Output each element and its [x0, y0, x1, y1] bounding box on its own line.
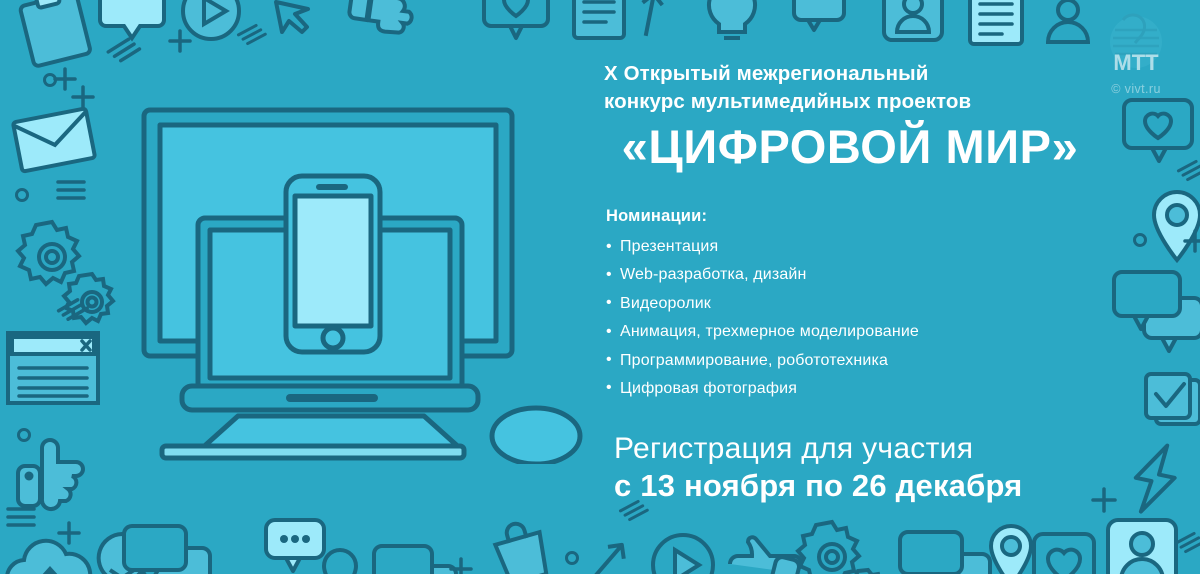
circle-icon — [1130, 230, 1150, 250]
nominations-heading: Номинации: — [606, 207, 707, 226]
registration-dates: с 13 ноября по 26 декабря — [614, 468, 1022, 504]
smartphone-shape — [286, 176, 380, 352]
plus-icon — [448, 556, 474, 574]
event-subtitle: X Открытый межрегиональный конкурс мульт… — [604, 60, 1104, 117]
mouse-shape — [492, 408, 580, 464]
heart-pin-icon — [480, 0, 552, 50]
promo-banner: X Открытый межрегиональный конкурс мульт… — [0, 0, 1200, 574]
lightning-bolt-icon — [1121, 435, 1192, 523]
plus-icon — [1182, 228, 1200, 254]
browser-window-icon — [5, 330, 101, 406]
menu-lines-icon — [56, 178, 86, 202]
registration-label: Регистрация для участия — [614, 432, 973, 466]
circle-icon — [12, 185, 32, 205]
content-column: X Открытый межрегиональный конкурс мульт… — [600, 0, 1120, 574]
circle-icon — [14, 425, 34, 445]
location-pin-icon — [1148, 188, 1200, 266]
circle-icon — [40, 70, 60, 90]
list-item: Цифровая фотография — [606, 380, 919, 399]
list-item: Анимация, трехмерное моделирование — [606, 323, 919, 342]
list-item: Web-разработка, дизайн — [606, 266, 919, 285]
vivt-logo: МТТ — [1101, 12, 1171, 83]
svg-text:МТТ: МТТ — [1113, 50, 1159, 75]
page-title: «ЦИФРОВОЙ МИР» — [570, 122, 1130, 171]
speed-lines-icon — [104, 34, 141, 69]
checkmark-file-icon — [1140, 370, 1200, 432]
speed-lines-icon — [235, 21, 266, 49]
thumbs-up-icon — [14, 428, 96, 510]
event-subtitle-line1: X Открытый межрегиональный — [604, 62, 928, 85]
watermark-text: © vivt.ru — [1111, 82, 1161, 96]
list-item: Программирование, робототехника — [606, 352, 919, 371]
devices-illustration — [138, 104, 588, 464]
circle-icon — [562, 548, 582, 568]
list-item: Презентация — [606, 238, 919, 257]
speed-lines-icon — [1173, 529, 1200, 557]
chat-bubbles-icon — [370, 542, 462, 574]
clipboard-icon — [10, 0, 107, 76]
event-subtitle-line2: конкурс мультимедийных проектов — [604, 90, 971, 113]
typing-bubble-icon — [262, 516, 328, 574]
plus-icon — [70, 84, 96, 110]
plus-icon — [167, 28, 193, 54]
envelope-icon — [9, 103, 99, 177]
gears-icon — [14, 212, 124, 322]
chat-bubbles-icon — [1112, 268, 1200, 354]
branding-block: МТТ © vivt.ru — [1084, 12, 1188, 104]
cursor-arrow-icon — [270, 0, 316, 46]
shopping-bag-icon — [482, 511, 560, 574]
cloud-upload-icon — [4, 540, 96, 574]
list-item: Видеоролик — [606, 295, 919, 314]
heart-pin-icon — [96, 0, 168, 52]
heart-pin-icon — [1120, 96, 1196, 176]
speed-lines-icon — [55, 294, 89, 325]
menu-lines-icon — [6, 505, 36, 529]
play-circle-icon — [178, 0, 244, 44]
lightbulb-icon — [90, 530, 154, 574]
speed-lines-icon — [1175, 157, 1200, 185]
thumbs-down-icon — [340, 0, 423, 43]
location-pin-icon — [320, 546, 360, 574]
plus-icon — [52, 66, 78, 92]
chat-bubbles-icon — [120, 520, 216, 574]
plus-icon — [56, 520, 82, 546]
nominations-list: Презентация Web-разработка, дизайн Видео… — [606, 238, 919, 408]
